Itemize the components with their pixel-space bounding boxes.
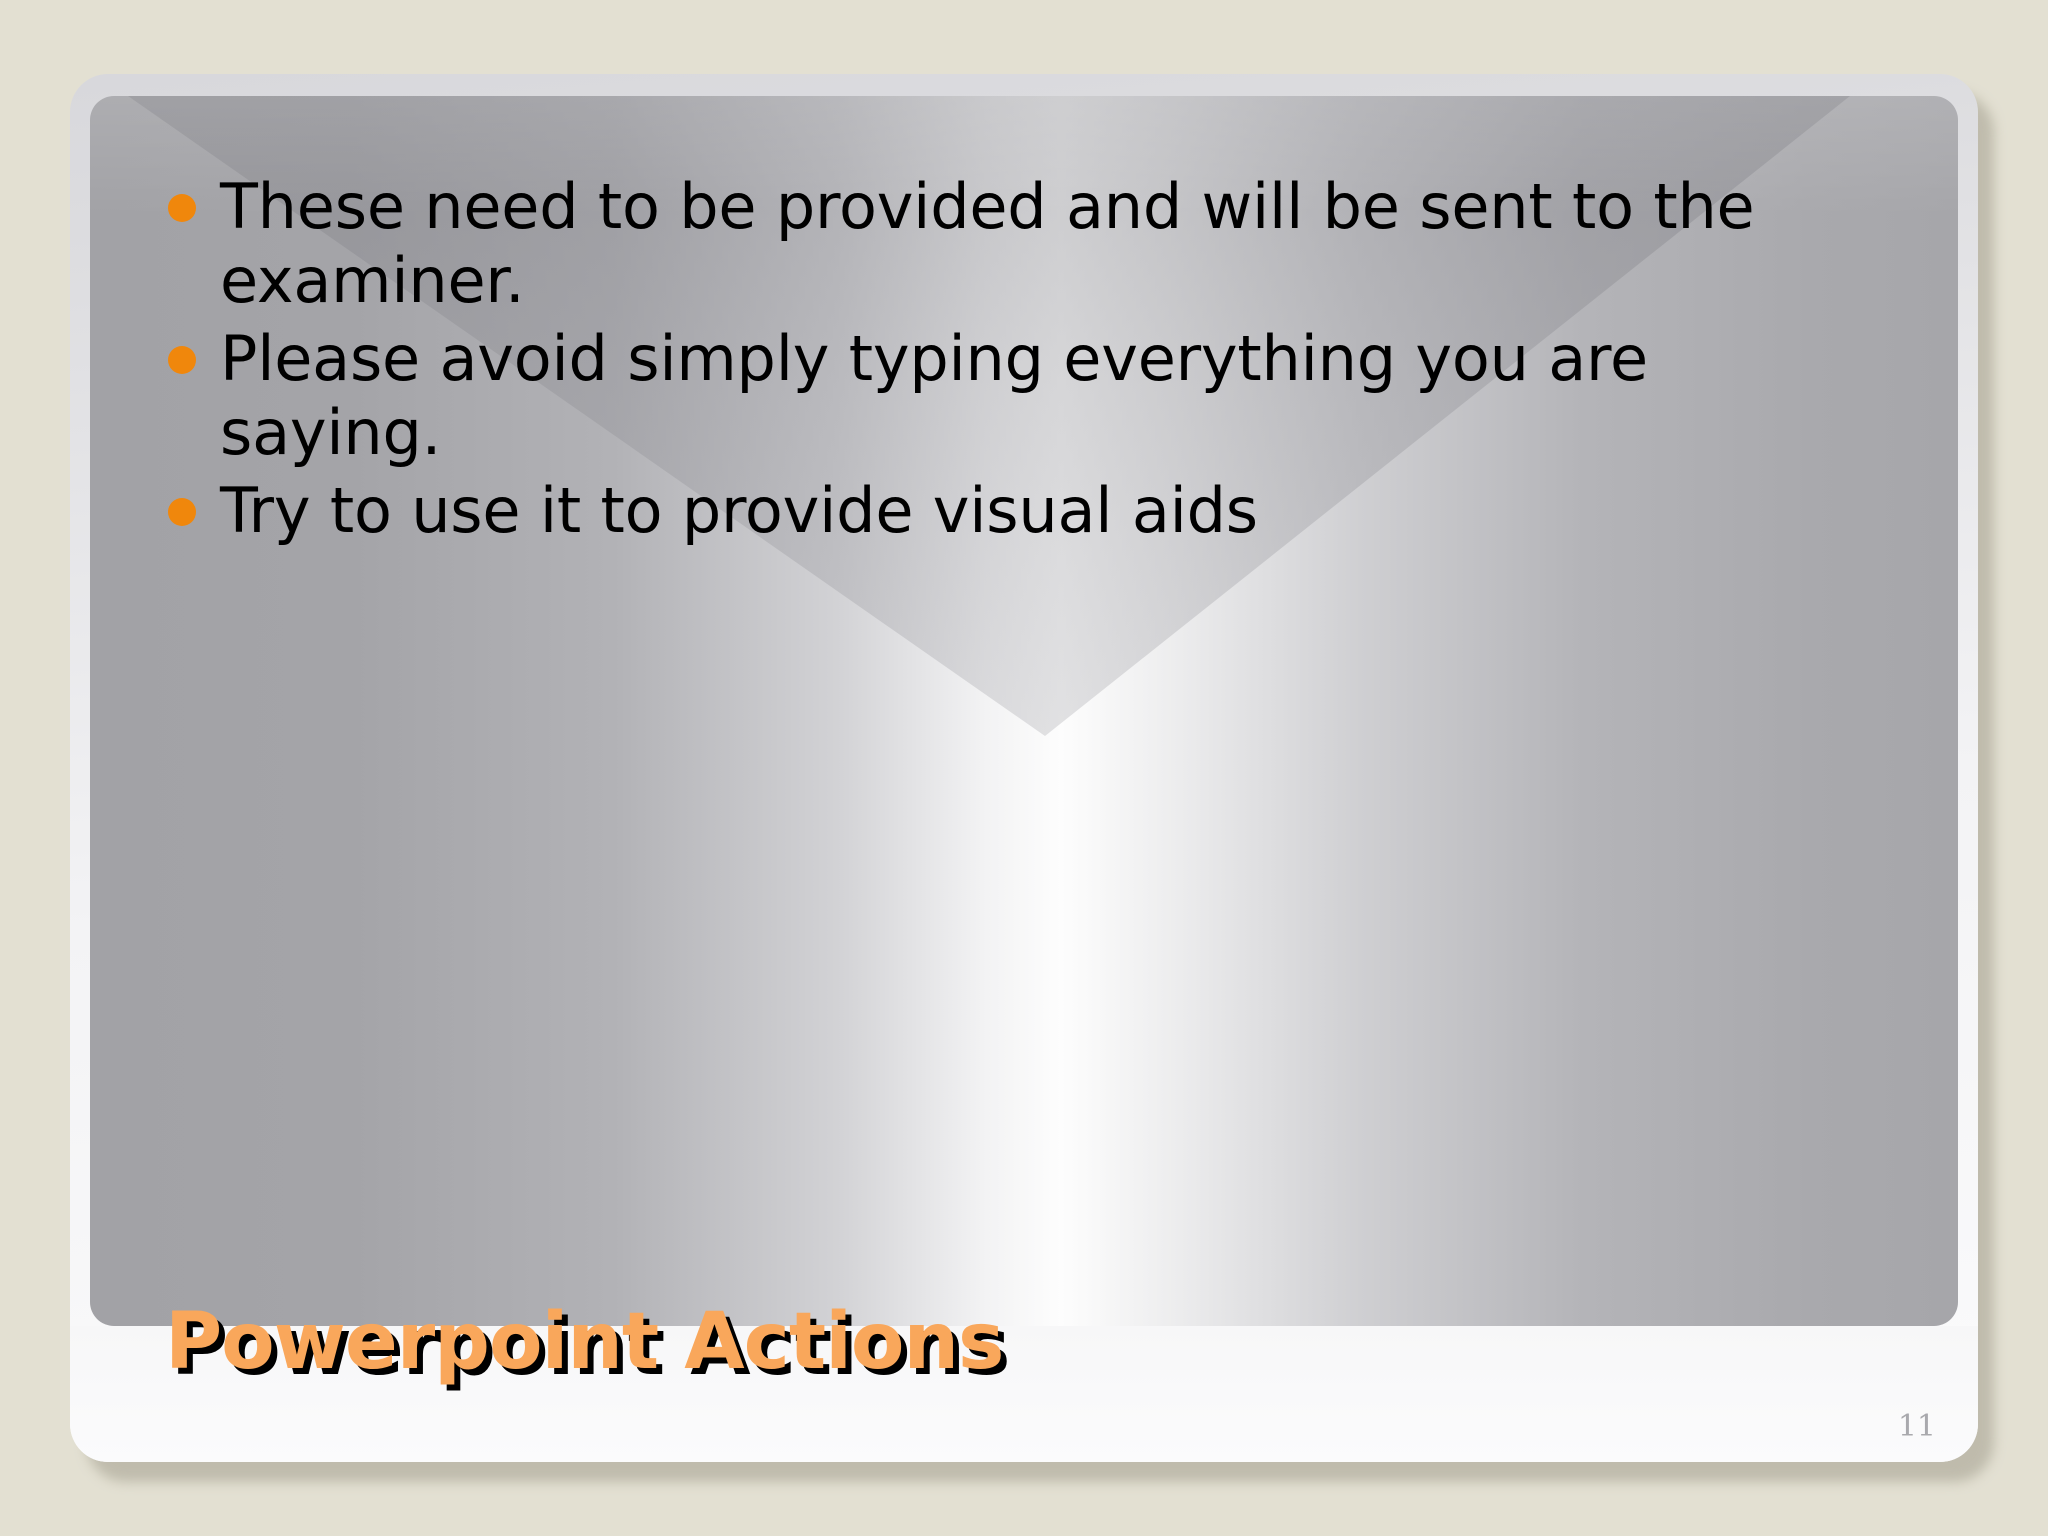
list-item-text: These need to be provided and will be se…	[220, 170, 1754, 317]
list-item: These need to be provided and will be se…	[162, 170, 1882, 318]
filled-circle-bullet-icon	[168, 498, 196, 526]
filled-circle-bullet-icon	[168, 194, 196, 222]
bullet-list: These need to be provided and will be se…	[162, 170, 1882, 552]
slide-number: 11	[1898, 1409, 1936, 1444]
list-item: Try to use it to provide visual aids	[162, 474, 1882, 548]
filled-circle-bullet-icon	[168, 346, 196, 374]
slide-card: These need to be provided and will be se…	[70, 74, 1978, 1462]
slide-canvas: These need to be provided and will be se…	[0, 0, 2048, 1536]
list-item-text: Try to use it to provide visual aids	[220, 474, 1258, 547]
list-item-text: Please avoid simply typing everything yo…	[220, 322, 1648, 469]
list-item: Please avoid simply typing everything yo…	[162, 322, 1882, 470]
page-title: Powerpoint Actions	[165, 1296, 1003, 1388]
